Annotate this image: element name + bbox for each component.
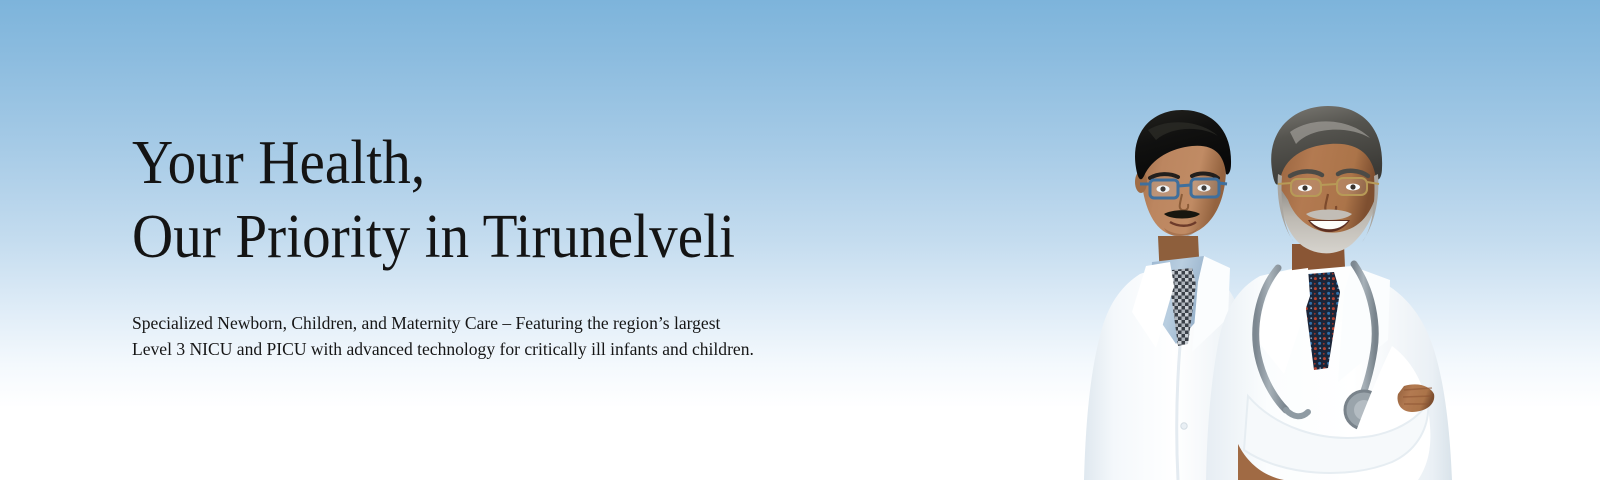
doctors-illustration <box>1052 96 1462 480</box>
doctors-photo <box>1052 96 1462 480</box>
doctor-right <box>1206 106 1452 480</box>
hero-headline-line-1: Your Health, <box>132 126 886 200</box>
hero-subheadline-line-1: Specialized Newborn, Children, and Mater… <box>132 310 932 336</box>
doctor-left-coat-button <box>1181 423 1187 429</box>
hero-subheadline-line-2: Level 3 NICU and PICU with advanced tech… <box>132 336 932 362</box>
hero-copy: Your Health, Our Priority in Tirunelveli… <box>132 126 952 362</box>
hero-subheadline: Specialized Newborn, Children, and Mater… <box>132 310 932 362</box>
hero-headline-line-2: Our Priority in Tirunelveli <box>132 200 886 274</box>
hero-banner: Your Health, Our Priority in Tirunelveli… <box>0 0 1600 480</box>
